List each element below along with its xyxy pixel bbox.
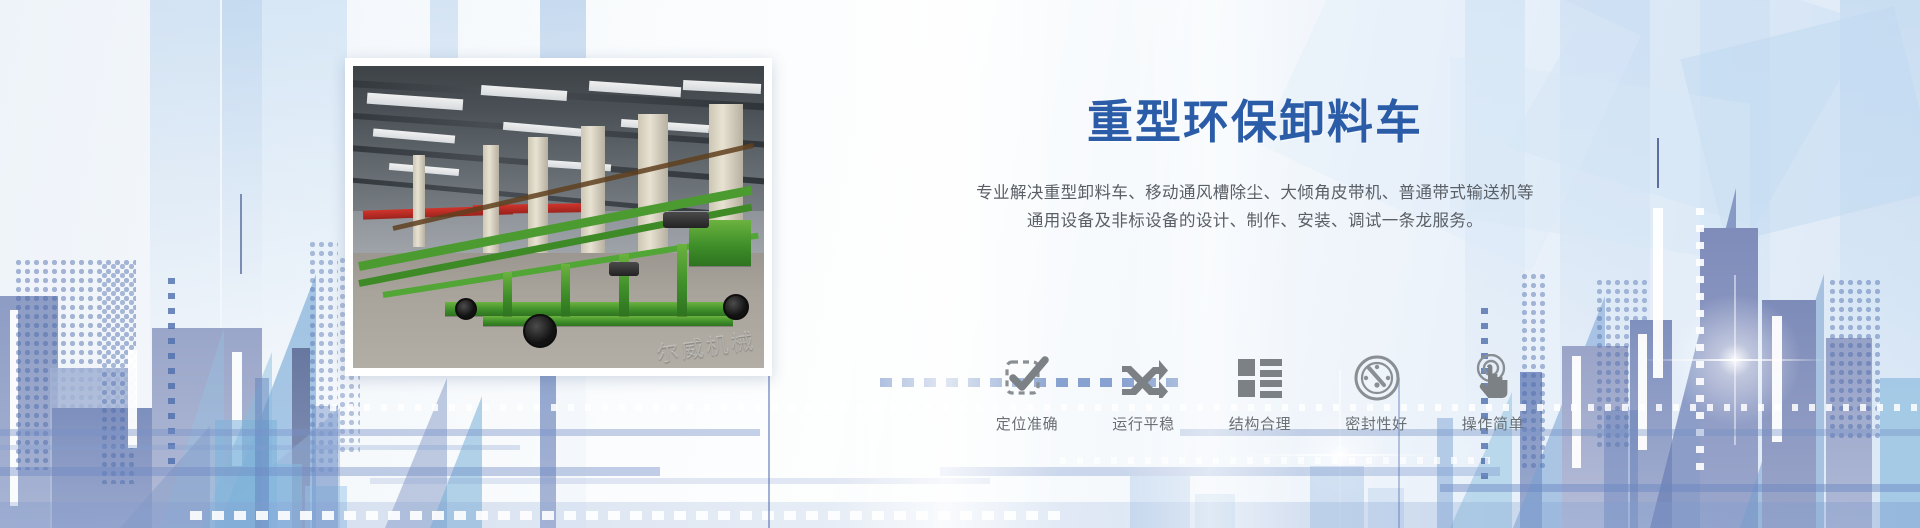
bg-band	[370, 478, 990, 484]
photo-wheel	[523, 314, 557, 348]
bg-dash-row	[190, 511, 1070, 520]
bg-stripe	[1560, 0, 1650, 528]
photo-column	[638, 114, 668, 268]
bg-building	[1368, 488, 1404, 528]
bg-building-windows	[1638, 334, 1647, 450]
feature-label: 定位准确	[975, 413, 1079, 434]
bg-sheen	[830, 0, 1060, 528]
bg-polygon	[1680, 6, 1920, 244]
bg-stripe	[222, 0, 262, 528]
bg-building	[1700, 228, 1758, 528]
photo-wheel	[723, 294, 749, 320]
photo-chassis	[445, 302, 745, 316]
bg-building-peak	[200, 352, 272, 528]
bg-building	[1880, 378, 1920, 528]
layout-list-icon	[1208, 352, 1312, 404]
page-title: 重型环保卸料车	[975, 96, 1535, 149]
bg-building-peak	[1740, 274, 1824, 528]
bg-antenna	[240, 194, 242, 274]
bg-building	[50, 368, 135, 528]
bg-building	[1604, 410, 1638, 528]
bg-antenna	[1657, 138, 1659, 188]
bg-building-peak	[200, 408, 340, 528]
bg-building-peak	[1650, 188, 1736, 528]
product-photo-card[interactable]: 尔威机械	[345, 58, 772, 376]
bg-building	[1826, 338, 1872, 528]
bg-building	[152, 328, 262, 528]
bg-building	[312, 406, 338, 528]
photo-roller	[663, 212, 709, 228]
photo-chassis	[483, 316, 733, 326]
bg-building-windows	[1572, 356, 1581, 468]
photo-column	[413, 155, 425, 247]
bg-building-peak	[218, 274, 316, 528]
bg-building-windows	[1772, 316, 1782, 442]
check-box-icon	[975, 352, 1079, 404]
bg-building	[1437, 418, 1453, 528]
bg-building-dots	[1828, 278, 1880, 440]
feature-list: 定位准确 运行平稳 结构合理	[975, 352, 1545, 434]
bg-band	[0, 467, 660, 476]
bg-building-dots	[100, 262, 138, 484]
bg-building-dots	[1595, 278, 1651, 450]
bg-building	[540, 360, 556, 528]
photo-support	[503, 272, 512, 316]
photo-support	[677, 244, 687, 316]
bg-building-windows	[128, 350, 137, 448]
bg-stripe	[1700, 0, 1770, 528]
bg-building	[305, 486, 347, 528]
bg-building	[1630, 320, 1672, 528]
feature-item-positioning[interactable]: 定位准确	[975, 352, 1079, 434]
bg-band	[0, 429, 760, 436]
bg-building-peak	[160, 328, 224, 528]
bg-polygon	[1508, 0, 1873, 227]
hero-content: 重型环保卸料车 专业解决重型卸料车、移动通风槽除尘、大倾角皮带机、普通带式输送机…	[975, 96, 1535, 235]
bg-sheen	[1120, 0, 1300, 528]
bg-building	[1310, 466, 1364, 528]
seal-gauge-icon	[1325, 352, 1429, 404]
photo-roller	[609, 262, 639, 276]
tap-hand-icon	[1441, 352, 1545, 404]
product-photo: 尔威机械	[353, 66, 764, 368]
bg-building	[1130, 476, 1190, 528]
shuffle-icon	[1092, 352, 1196, 404]
bg-building	[1562, 346, 1628, 528]
bg-building	[262, 464, 302, 528]
hero-description: 专业解决重型卸料车、移动通风槽除尘、大倾角皮带机、普通带式输送机等通用设备及非标…	[975, 179, 1535, 235]
bg-building-peak	[385, 378, 447, 528]
bg-building	[52, 408, 167, 528]
bg-building-peak	[430, 396, 482, 528]
bg-dot-column	[168, 278, 175, 468]
feature-item-easy-operation[interactable]: 操作简单	[1441, 352, 1545, 434]
bg-band	[940, 467, 1500, 476]
feature-label: 密封性好	[1325, 413, 1429, 434]
feature-label: 操作简单	[1441, 413, 1545, 434]
bg-building	[255, 378, 269, 528]
bg-building	[1762, 300, 1816, 528]
feature-label: 结构合理	[1208, 413, 1312, 434]
bg-flare	[1650, 275, 1820, 445]
feature-item-smooth-running[interactable]: 运行平稳	[1092, 352, 1196, 434]
bg-band	[1440, 484, 1920, 492]
bg-building-dots	[308, 240, 338, 476]
bg-band	[0, 502, 1920, 528]
bg-building-windows	[10, 310, 18, 506]
bg-dot-row	[1060, 457, 1490, 464]
bg-stripe	[1840, 0, 1920, 528]
bg-building	[292, 348, 310, 528]
background-artwork	[0, 0, 1920, 528]
bg-band	[0, 445, 520, 450]
photo-wheel	[455, 298, 477, 320]
bg-stripe	[1465, 0, 1525, 528]
feature-item-sealing[interactable]: 密封性好	[1325, 352, 1429, 434]
feature-label: 运行平稳	[1092, 413, 1196, 434]
bg-stripe	[262, 0, 347, 528]
photo-support	[561, 264, 570, 316]
hero-banner: 尔威机械 重型环保卸料车 专业解决重型卸料车、移动通风槽除尘、大倾角皮带机、普通…	[0, 0, 1920, 528]
bg-building	[0, 296, 58, 528]
bg-stripe	[150, 0, 220, 528]
bg-building	[1195, 494, 1235, 528]
feature-item-structure[interactable]: 结构合理	[1208, 352, 1312, 434]
bg-building-windows	[232, 352, 242, 466]
bg-building	[215, 420, 277, 528]
bg-building-windows	[1653, 208, 1663, 378]
bg-dot-column	[1696, 208, 1704, 476]
bg-building-dots	[14, 258, 136, 470]
bg-building-peak	[120, 426, 210, 528]
